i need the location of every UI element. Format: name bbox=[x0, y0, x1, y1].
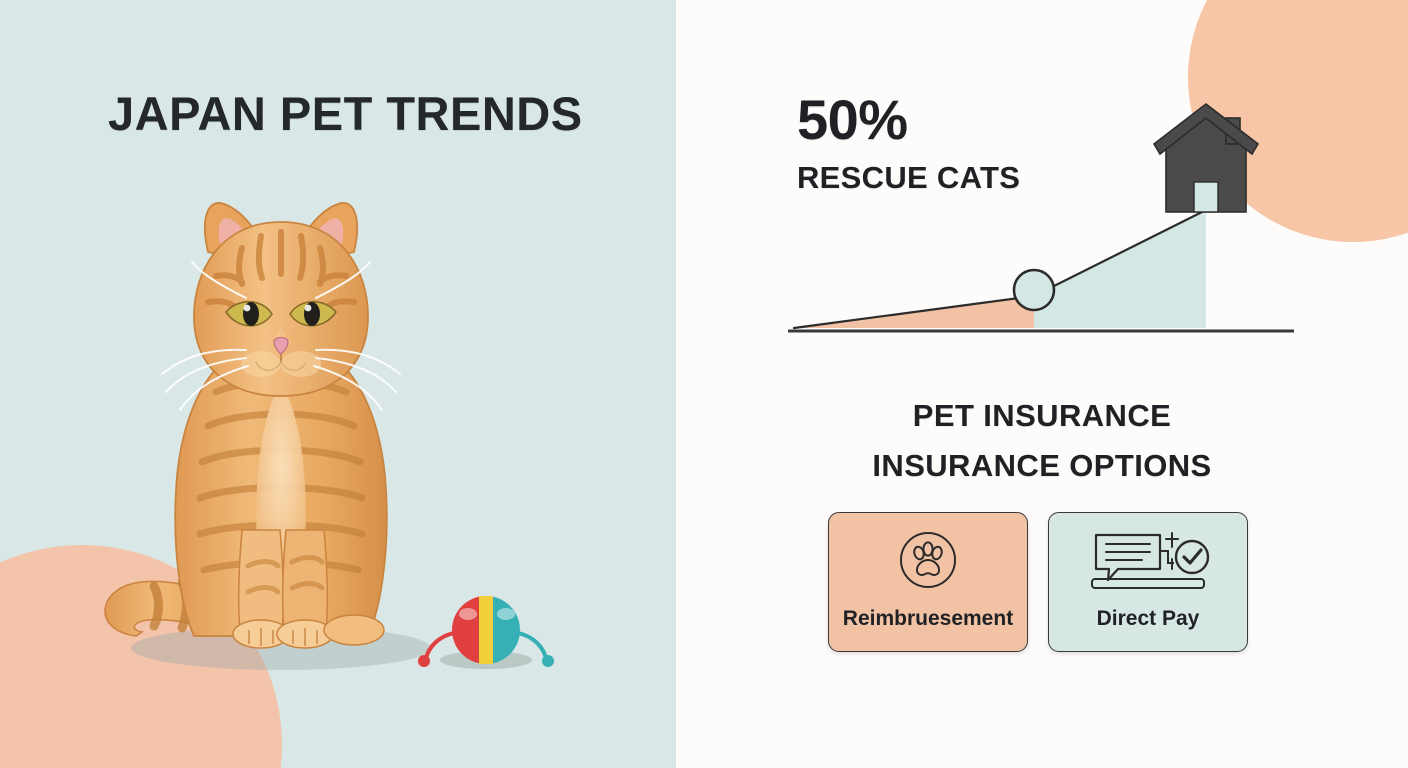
left-panel: JAPAN PET TRENDS bbox=[0, 0, 676, 768]
stat-value: 50% bbox=[797, 92, 1020, 148]
page-title: JAPAN PET TRENDS bbox=[108, 86, 583, 141]
option-card-reimbursement[interactable]: Reimbruesement bbox=[828, 512, 1028, 652]
section-heading-secondary: INSURANCE OPTIONS bbox=[676, 448, 1408, 484]
chart-area-later bbox=[1034, 210, 1206, 328]
paw-circle-icon bbox=[829, 529, 1027, 591]
chart-data-marker bbox=[1014, 270, 1054, 310]
cat-toy-ball bbox=[408, 576, 558, 672]
option-card-label: Reimbruesement bbox=[829, 607, 1027, 631]
house-icon bbox=[1154, 104, 1258, 212]
option-card-direct-pay[interactable]: Direct Pay bbox=[1048, 512, 1248, 652]
document-check-icon bbox=[1049, 529, 1247, 591]
insurance-options-list: Reimbruesement bbox=[828, 512, 1248, 652]
stat-label: RESCUE CATS bbox=[797, 160, 1020, 196]
section-heading-primary: PET INSURANCE bbox=[676, 398, 1408, 434]
right-panel: 50% RESCUE CATS PET INSURANCE INSURANCE … bbox=[676, 0, 1408, 768]
option-card-label: Direct Pay bbox=[1049, 607, 1247, 631]
infographic-canvas: JAPAN PET TRENDS bbox=[0, 0, 1408, 768]
stat-block: 50% RESCUE CATS bbox=[797, 92, 1020, 196]
